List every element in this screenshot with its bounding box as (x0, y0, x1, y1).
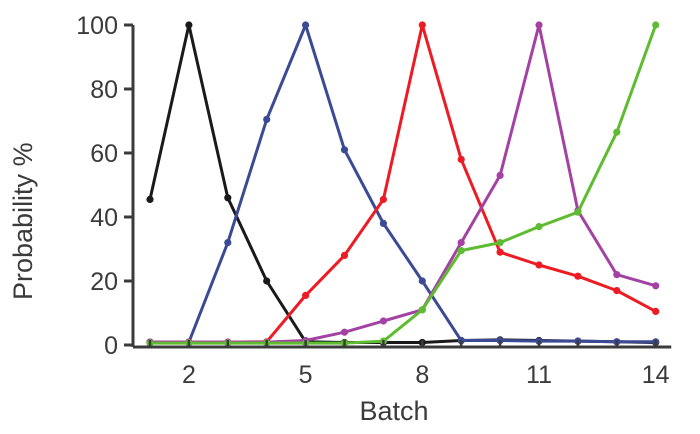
series-purple-point (652, 282, 659, 289)
y-axis-tick-label: 100 (76, 12, 118, 40)
x-axis-tick-label: 5 (299, 361, 313, 389)
y-axis-tick-label: 20 (90, 268, 118, 296)
series-red-point (535, 261, 542, 268)
series-green-point (652, 21, 659, 28)
y-axis-tick-label: 0 (104, 332, 118, 360)
series-blue-point (419, 277, 426, 284)
series-green-point (535, 223, 542, 230)
x-axis-tick-label: 11 (526, 361, 552, 389)
series-black-point (146, 196, 153, 203)
series-blue-point (380, 220, 387, 227)
chart-container: 0204060801002581114 Probability % Batch (0, 0, 700, 434)
series-black-point (185, 21, 192, 28)
series-red-point (341, 252, 348, 259)
series-red-point (574, 273, 581, 280)
series-blue-point (263, 116, 270, 123)
series-green-point (613, 129, 620, 136)
y-axis-tick-label: 80 (90, 76, 118, 104)
series-red-point (380, 196, 387, 203)
y-axis-tick-label: 40 (90, 204, 118, 232)
y-axis-tick-label: 60 (90, 140, 118, 168)
series-black-point (263, 277, 270, 284)
series-red-point (302, 292, 309, 299)
series-red-point (497, 249, 504, 256)
series-black-point (224, 194, 231, 201)
series-red-point (458, 156, 465, 163)
series-green-point (458, 247, 465, 254)
series-blue-point (302, 21, 309, 28)
series-black-line (150, 25, 656, 342)
series-purple-point (535, 21, 542, 28)
series-purple-point (497, 172, 504, 179)
series-red-point (652, 308, 659, 315)
plot-area: 0204060801002581114 (76, 12, 671, 389)
series-red-point (419, 21, 426, 28)
series-red-point (613, 287, 620, 294)
x-axis-tick-label: 2 (182, 361, 196, 389)
series-green-point (497, 239, 504, 246)
series-purple-point (341, 329, 348, 336)
series-purple-point (458, 239, 465, 246)
series-purple-point (380, 317, 387, 324)
series-blue-point (224, 239, 231, 246)
series-black (146, 21, 659, 346)
y-axis-title: Probability % (8, 142, 38, 300)
x-axis-title: Batch (359, 396, 428, 426)
series-green-point (419, 306, 426, 313)
series-layer (146, 21, 659, 346)
x-axis-tick-label: 14 (642, 361, 670, 389)
series-purple-point (613, 271, 620, 278)
series-blue-point (341, 146, 348, 153)
x-axis-tick-label: 8 (415, 361, 429, 389)
series-green-point (574, 209, 581, 216)
line-chart: 0204060801002581114 Probability % Batch (0, 0, 700, 434)
